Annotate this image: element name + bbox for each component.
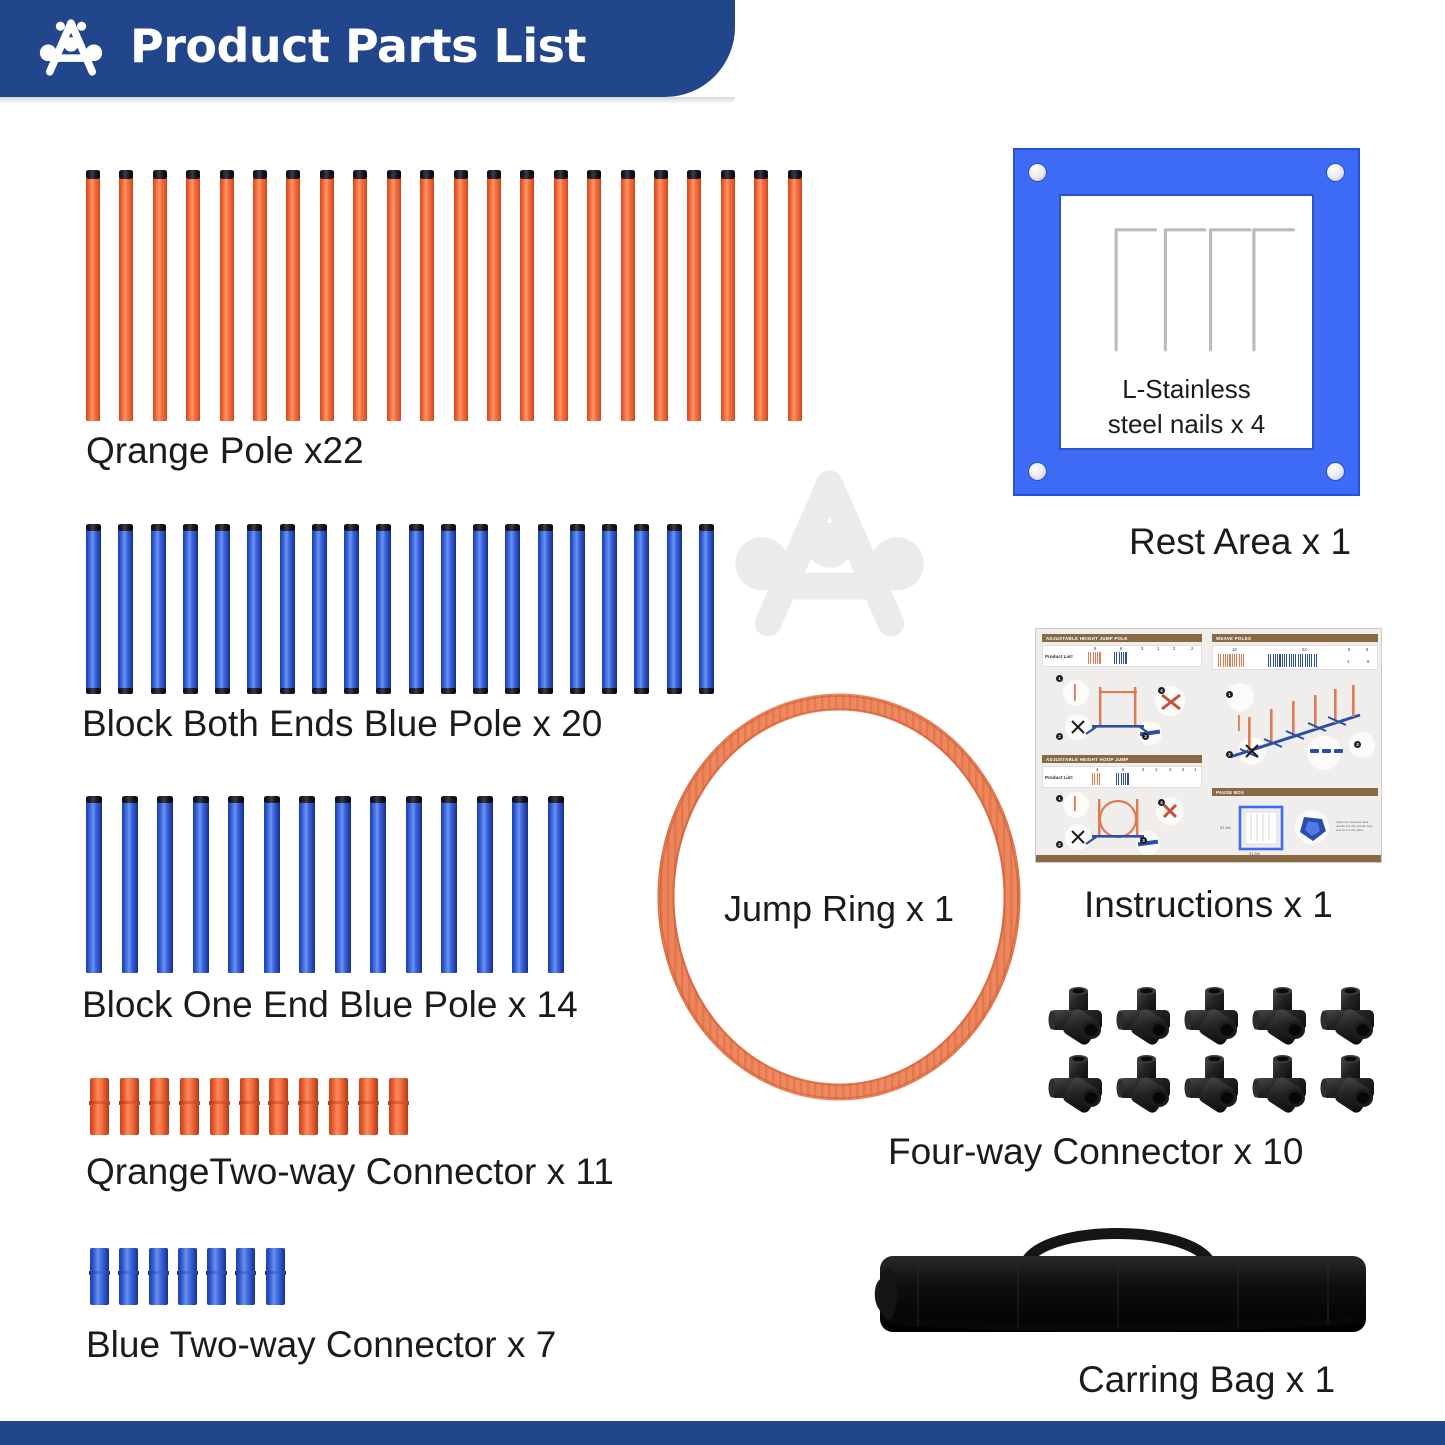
pole-cap-bottom [376, 688, 391, 694]
pole-body [441, 527, 456, 693]
pole-cap-top [183, 524, 198, 531]
step-1-b: 1 [1056, 795, 1063, 802]
block-both-ends-blue-pole [505, 524, 520, 694]
orange-pole [320, 170, 334, 422]
pole-body [487, 173, 501, 421]
qty-2-6: 6 [1367, 659, 1369, 664]
connector-segment-bottom [269, 1104, 288, 1135]
four-way-connector [1248, 1051, 1316, 1119]
pole-body [186, 173, 200, 421]
pole-body [353, 173, 367, 421]
instructions-footer-bar [1036, 855, 1381, 862]
pole-body [86, 799, 102, 973]
pole-cap-top [602, 524, 617, 531]
orange-pole [654, 170, 668, 422]
pole-cap-bottom [441, 688, 456, 694]
pole-body [253, 173, 267, 421]
step-2-b: 2 [1056, 841, 1063, 848]
orange-pole [119, 170, 133, 422]
block-both-ends-blue-pole [667, 524, 682, 694]
pole-body [183, 527, 198, 693]
tick-group-orange-1 [1088, 652, 1101, 664]
pole-body [286, 173, 300, 421]
connector-segment-top [389, 1078, 408, 1102]
pole-body [788, 173, 802, 421]
pole-body [721, 173, 735, 421]
block-one-end-blue-pole [157, 796, 173, 974]
pole-body [376, 527, 391, 693]
blue-two-way-connector [178, 1248, 197, 1305]
pole-cap-top [153, 170, 167, 179]
orange-pole [487, 170, 501, 422]
pole-cap-bottom [118, 688, 133, 694]
orange-two-way-connector [90, 1078, 109, 1135]
block-one-end-blue-pole [86, 796, 102, 974]
connector-segment-top [149, 1248, 168, 1272]
pole-cap-top [344, 524, 359, 531]
block-one-end-blue-pole [264, 796, 280, 974]
pole-cap-top [335, 796, 351, 803]
pole-body [538, 527, 553, 693]
pole-body [280, 527, 295, 693]
block-one-end-blue-pole [193, 796, 209, 974]
pole-cap-top [505, 524, 520, 531]
four-way-connector [1180, 983, 1248, 1051]
pole-cap-top [220, 170, 234, 179]
blue-two-way-connector [90, 1248, 109, 1305]
block-both-ends-blue-pole [280, 524, 295, 694]
pole-cap-top [667, 524, 682, 531]
product-parts-list-page: Product Parts List Qrange Pole x22 Block… [0, 0, 1445, 1445]
pole-body [335, 799, 351, 973]
orange-two-way-connector [120, 1078, 139, 1135]
block-both-ends-blue-pole [602, 524, 617, 694]
qty-1-6: 2 [1191, 646, 1193, 651]
blue-two-way-connector [236, 1248, 255, 1305]
pole-cap-top [157, 796, 173, 803]
pole-body [119, 173, 133, 421]
step-2: 2 [1056, 733, 1063, 740]
block-both-ends-blue-pole [215, 524, 230, 694]
block-both-ends-blue-pole [183, 524, 198, 694]
connector-segment-top [240, 1078, 259, 1102]
pole-cap-top [409, 524, 424, 531]
orange-pole [387, 170, 401, 422]
pole-body [406, 799, 422, 973]
block-one-end-blue-pole [335, 796, 351, 974]
pole-body [320, 173, 334, 421]
pole-body [118, 527, 133, 693]
pause-box-diagram: 31.5in 31.5in Insert the stainless steel… [1212, 801, 1380, 857]
pole-cap-top [788, 170, 802, 179]
block-one-end-blue-pole [228, 796, 244, 974]
pole-body [299, 799, 315, 973]
jump-ring-label: Jump Ring x 1 [653, 888, 1025, 930]
four-way-connector-label: Four-way Connector x 10 [888, 1131, 1303, 1173]
qty-3-6: 2 [1182, 767, 1184, 772]
four-way-connector [1316, 983, 1384, 1051]
pole-body [420, 173, 434, 421]
pole-body [505, 527, 520, 693]
pole-cap-top [193, 796, 209, 803]
connector-segment-bottom [266, 1274, 285, 1305]
grommet-icon [1028, 163, 1047, 182]
tick-group-blue-2 [1268, 654, 1317, 667]
pole-cap-top [215, 524, 230, 531]
pole-body [220, 173, 234, 421]
connector-segment-bottom [149, 1274, 168, 1305]
pole-cap-bottom [86, 688, 101, 694]
pole-cap-top [621, 170, 635, 179]
pole-body [634, 527, 649, 693]
pole-cap-bottom [409, 688, 424, 694]
block-one-end-blue-pole [370, 796, 386, 974]
block-one-end-blue-pole [441, 796, 457, 974]
step-1: 1 [1056, 675, 1063, 682]
connector-segment-bottom [180, 1104, 199, 1135]
orange-pole [454, 170, 468, 422]
four-way-connector [1044, 983, 1112, 1051]
tick-group-orange-3 [1092, 773, 1100, 785]
block-one-end-blue-pole [299, 796, 315, 974]
pole-cap-top [654, 170, 668, 179]
pole-cap-top [721, 170, 735, 179]
orange-two-way-connector [210, 1078, 229, 1135]
four-way-connector [1180, 1051, 1248, 1119]
pole-body [520, 173, 534, 421]
four-way-connector-group [1044, 983, 1384, 1119]
connector-segment-top [269, 1078, 288, 1102]
page-title: Product Parts List [130, 19, 586, 73]
instructions-section-title-weave-poles: WEAVE POLES [1212, 634, 1378, 642]
connector-segment-top [329, 1078, 348, 1102]
block-both-ends-blue-pole [376, 524, 391, 694]
orange-pole [353, 170, 367, 422]
connector-segment-top [119, 1248, 138, 1272]
pole-body [409, 527, 424, 693]
pole-cap-top [376, 524, 391, 531]
step-3: 3 [1142, 733, 1149, 740]
connector-segment-top [207, 1248, 226, 1272]
pole-cap-top [118, 524, 133, 531]
orange-pole [286, 170, 300, 422]
four-way-connector [1316, 1051, 1384, 1119]
instructions-label: Instructions x 1 [1084, 884, 1333, 926]
connector-segment-bottom [90, 1274, 109, 1305]
connector-segment-bottom [119, 1274, 138, 1305]
connector-segment-bottom [359, 1104, 378, 1135]
pole-cap-bottom [312, 688, 327, 694]
pole-cap-top [570, 524, 585, 531]
orange-pole [153, 170, 167, 422]
pole-cap-top [370, 796, 386, 803]
orange-pole [754, 170, 768, 422]
connector-segment-top [180, 1078, 199, 1102]
four-way-connector [1044, 1051, 1112, 1119]
block-one-end-blue-pole [548, 796, 564, 974]
pole-body [512, 799, 528, 973]
orange-pole [186, 170, 200, 422]
header-shadow [0, 97, 735, 104]
four-way-connector [1180, 1051, 1248, 1119]
pole-cap-top [520, 170, 534, 179]
pole-cap-top [151, 524, 166, 531]
instructions-sheet: ADJUSTABLE HEIGHT JUMP POLE Product List… [1035, 628, 1382, 863]
pole-cap-bottom [247, 688, 262, 694]
connector-segment-top [236, 1248, 255, 1272]
four-way-connector [1248, 983, 1316, 1051]
orange-two-way-connector [150, 1078, 169, 1135]
pole-body [554, 173, 568, 421]
connector-segment-bottom [240, 1104, 259, 1135]
pole-body [228, 799, 244, 973]
jump-pole-diagram [1042, 671, 1204, 751]
pole-body [441, 799, 457, 973]
pole-cap-bottom [473, 688, 488, 694]
qty-1-4: 1 [1157, 646, 1159, 651]
block-both-ends-blue-pole [409, 524, 424, 694]
connector-segment-top [90, 1248, 109, 1272]
step-3-b: 3 [1140, 837, 1147, 844]
four-way-connector [1248, 1051, 1316, 1119]
pole-body [754, 173, 768, 421]
pole-cap-top [247, 524, 262, 531]
pole-cap-bottom [634, 688, 649, 694]
tick-group-blue-3 [1116, 773, 1129, 785]
orange-two-way-connector [299, 1078, 318, 1135]
pole-cap-bottom [570, 688, 585, 694]
pole-cap-bottom [505, 688, 520, 694]
connector-segment-bottom [178, 1274, 197, 1305]
orange-pole [788, 170, 802, 422]
pole-cap-top [387, 170, 401, 179]
pole-cap-top [454, 170, 468, 179]
pole-cap-top [687, 170, 701, 179]
connector-segment-bottom [207, 1274, 226, 1305]
pole-body [654, 173, 668, 421]
orange-pole-group [86, 170, 826, 422]
pole-cap-top [406, 796, 422, 803]
pole-cap-top [119, 170, 133, 179]
qty-3-7: 1 [1194, 767, 1196, 772]
pole-body [153, 173, 167, 421]
connector-segment-top [359, 1078, 378, 1102]
pole-cap-top [228, 796, 244, 803]
grommet-icon [1326, 462, 1345, 481]
qty-3-3: 2 [1142, 767, 1144, 772]
instructions-section-title-hoop-jump: ADJUSTABLE HEIGHT HOOP JUMP [1042, 755, 1202, 763]
pole-cap-bottom [183, 688, 198, 694]
orange-pole [420, 170, 434, 422]
orange-two-way-connector-group [90, 1078, 420, 1135]
pole-cap-bottom [280, 688, 295, 694]
connector-segment-bottom [299, 1104, 318, 1135]
page-header: Product Parts List [0, 0, 735, 97]
connector-segment-top [210, 1078, 229, 1102]
pole-cap-bottom [151, 688, 166, 694]
orange-two-way-connector [240, 1078, 259, 1135]
pole-cap-bottom [602, 688, 617, 694]
orange-pole-label: Qrange Pole x22 [86, 430, 364, 472]
four-way-connector [1044, 983, 1112, 1051]
orange-pole [587, 170, 601, 422]
pole-cap-top [587, 170, 601, 179]
four-way-connector [1112, 983, 1180, 1051]
step-1-c: 1 [1226, 691, 1233, 698]
step-2-c: 2 [1226, 751, 1233, 758]
pole-body [86, 173, 100, 421]
block-both-ends-blue-pole [86, 524, 101, 694]
block-both-ends-blue-pole [570, 524, 585, 694]
block-both-ends-blue-pole [151, 524, 166, 694]
pole-body [312, 527, 327, 693]
step-3-c: 3 [1354, 741, 1361, 748]
grommet-icon [1326, 163, 1345, 182]
connector-segment-bottom [90, 1104, 109, 1135]
qty-1-5: 2 [1173, 646, 1175, 651]
four-way-connector [1248, 983, 1316, 1051]
pole-cap-top [699, 524, 714, 531]
connector-segment-bottom [389, 1104, 408, 1135]
pole-cap-top [86, 524, 101, 531]
blue-two-way-connector [207, 1248, 226, 1305]
l-nails-caption-line1: L-Stainless [1061, 372, 1312, 407]
qty-3-2: 6 [1122, 767, 1124, 772]
product-list-label-1: Product List: [1045, 654, 1073, 659]
pole-body [122, 799, 138, 973]
pole-body [621, 173, 635, 421]
pole-body [86, 527, 101, 693]
connector-segment-top [178, 1248, 197, 1272]
pole-body [548, 799, 564, 973]
pole-cap-top [320, 170, 334, 179]
pole-cap-top [420, 170, 434, 179]
qty-1-3: 3 [1141, 646, 1143, 651]
pole-body [215, 527, 230, 693]
pole-body [344, 527, 359, 693]
pole-cap-top [473, 524, 488, 531]
blue-two-way-connector [266, 1248, 285, 1305]
logo-a-watermark-icon [727, 447, 932, 662]
four-way-connector [1112, 983, 1180, 1051]
qty-2-3: 6 [1348, 647, 1350, 652]
pole-cap-top [754, 170, 768, 179]
logo-a-icon [33, 11, 109, 87]
l-nails-caption: L-Stainless steel nails x 4 [1061, 372, 1312, 441]
instructions-section-title-pause-box: PAUSE BOX [1212, 788, 1378, 796]
pole-cap-top [441, 524, 456, 531]
four-way-connector [1316, 983, 1384, 1051]
tick-group-orange-2 [1218, 654, 1244, 667]
pole-cap-top [280, 524, 295, 531]
blue-two-way-connector-group [90, 1248, 295, 1305]
block-both-ends-blue-pole-group [86, 524, 736, 694]
block-one-end-blue-pole [406, 796, 422, 974]
block-one-end-blue-pole [512, 796, 528, 974]
connector-segment-bottom [150, 1104, 169, 1135]
hoop-jump-diagram [1042, 791, 1204, 857]
rest-area-label: Rest Area x 1 [1129, 521, 1351, 563]
pole-cap-top [634, 524, 649, 531]
pole-cap-bottom [344, 688, 359, 694]
orange-pole [253, 170, 267, 422]
connector-segment-top [90, 1078, 109, 1102]
pole-cap-top [86, 796, 102, 803]
pole-body [157, 799, 173, 973]
four-way-connector [1044, 1051, 1112, 1119]
qty-2-4: 6 [1366, 647, 1368, 652]
connector-segment-top [299, 1078, 318, 1102]
four-way-connector [1180, 983, 1248, 1051]
qty-2-5: 1 [1347, 659, 1349, 664]
orange-two-way-connector [180, 1078, 199, 1135]
block-both-ends-blue-pole [118, 524, 133, 694]
blue-two-way-connector-label: Blue Two-way Connector x 7 [86, 1324, 556, 1366]
rest-area-inner-panel: L-Stainless steel nails x 4 [1059, 194, 1314, 450]
block-both-ends-blue-pole-label: Block Both Ends Blue Pole x 20 [82, 703, 602, 745]
pole-body [477, 799, 493, 973]
pole-body [570, 527, 585, 693]
pole-body [247, 527, 262, 693]
l-nails-icon [1061, 220, 1312, 363]
four-way-connector [1112, 1051, 1180, 1119]
orange-pole [220, 170, 234, 422]
grommet-icon [1028, 462, 1047, 481]
block-both-ends-blue-pole [344, 524, 359, 694]
connector-segment-bottom [210, 1104, 229, 1135]
connector-segment-top [150, 1078, 169, 1102]
orange-two-way-connector [389, 1078, 408, 1135]
l-nails-caption-line2: steel nails x 4 [1061, 407, 1312, 442]
orange-pole [554, 170, 568, 422]
block-both-ends-blue-pole [473, 524, 488, 694]
pole-body [473, 527, 488, 693]
orange-two-way-connector [329, 1078, 348, 1135]
pole-cap-top [477, 796, 493, 803]
pole-body [587, 173, 601, 421]
pole-cap-bottom [215, 688, 230, 694]
blue-two-way-connector [119, 1248, 138, 1305]
pole-body [264, 799, 280, 973]
qty-1-1: 6 [1094, 646, 1096, 651]
qty-3-4: 1 [1155, 767, 1157, 772]
pole-body [387, 173, 401, 421]
connector-segment-bottom [236, 1274, 255, 1305]
pole-cap-top [286, 170, 300, 179]
orange-two-way-connector [359, 1078, 378, 1135]
block-both-ends-blue-pole [699, 524, 714, 694]
pole-cap-top [548, 796, 564, 803]
pole-cap-top [186, 170, 200, 179]
blue-two-way-connector [149, 1248, 168, 1305]
pole-cap-top [122, 796, 138, 803]
four-way-connector [1112, 1051, 1180, 1119]
connector-segment-bottom [329, 1104, 348, 1135]
qty-1-2: 6 [1120, 646, 1122, 651]
orange-two-way-connector [269, 1078, 288, 1135]
pole-body [193, 799, 209, 973]
pole-cap-top [512, 796, 528, 803]
pole-cap-top [253, 170, 267, 179]
orange-pole [86, 170, 100, 422]
step-4-b: 4 [1158, 799, 1165, 806]
block-one-end-blue-pole-group [86, 796, 586, 974]
pole-cap-top [554, 170, 568, 179]
pole-body [454, 173, 468, 421]
pole-cap-bottom [538, 688, 553, 694]
rest-area-mat: L-Stainless steel nails x 4 [1013, 148, 1360, 496]
weave-poles-diagram [1212, 673, 1380, 773]
